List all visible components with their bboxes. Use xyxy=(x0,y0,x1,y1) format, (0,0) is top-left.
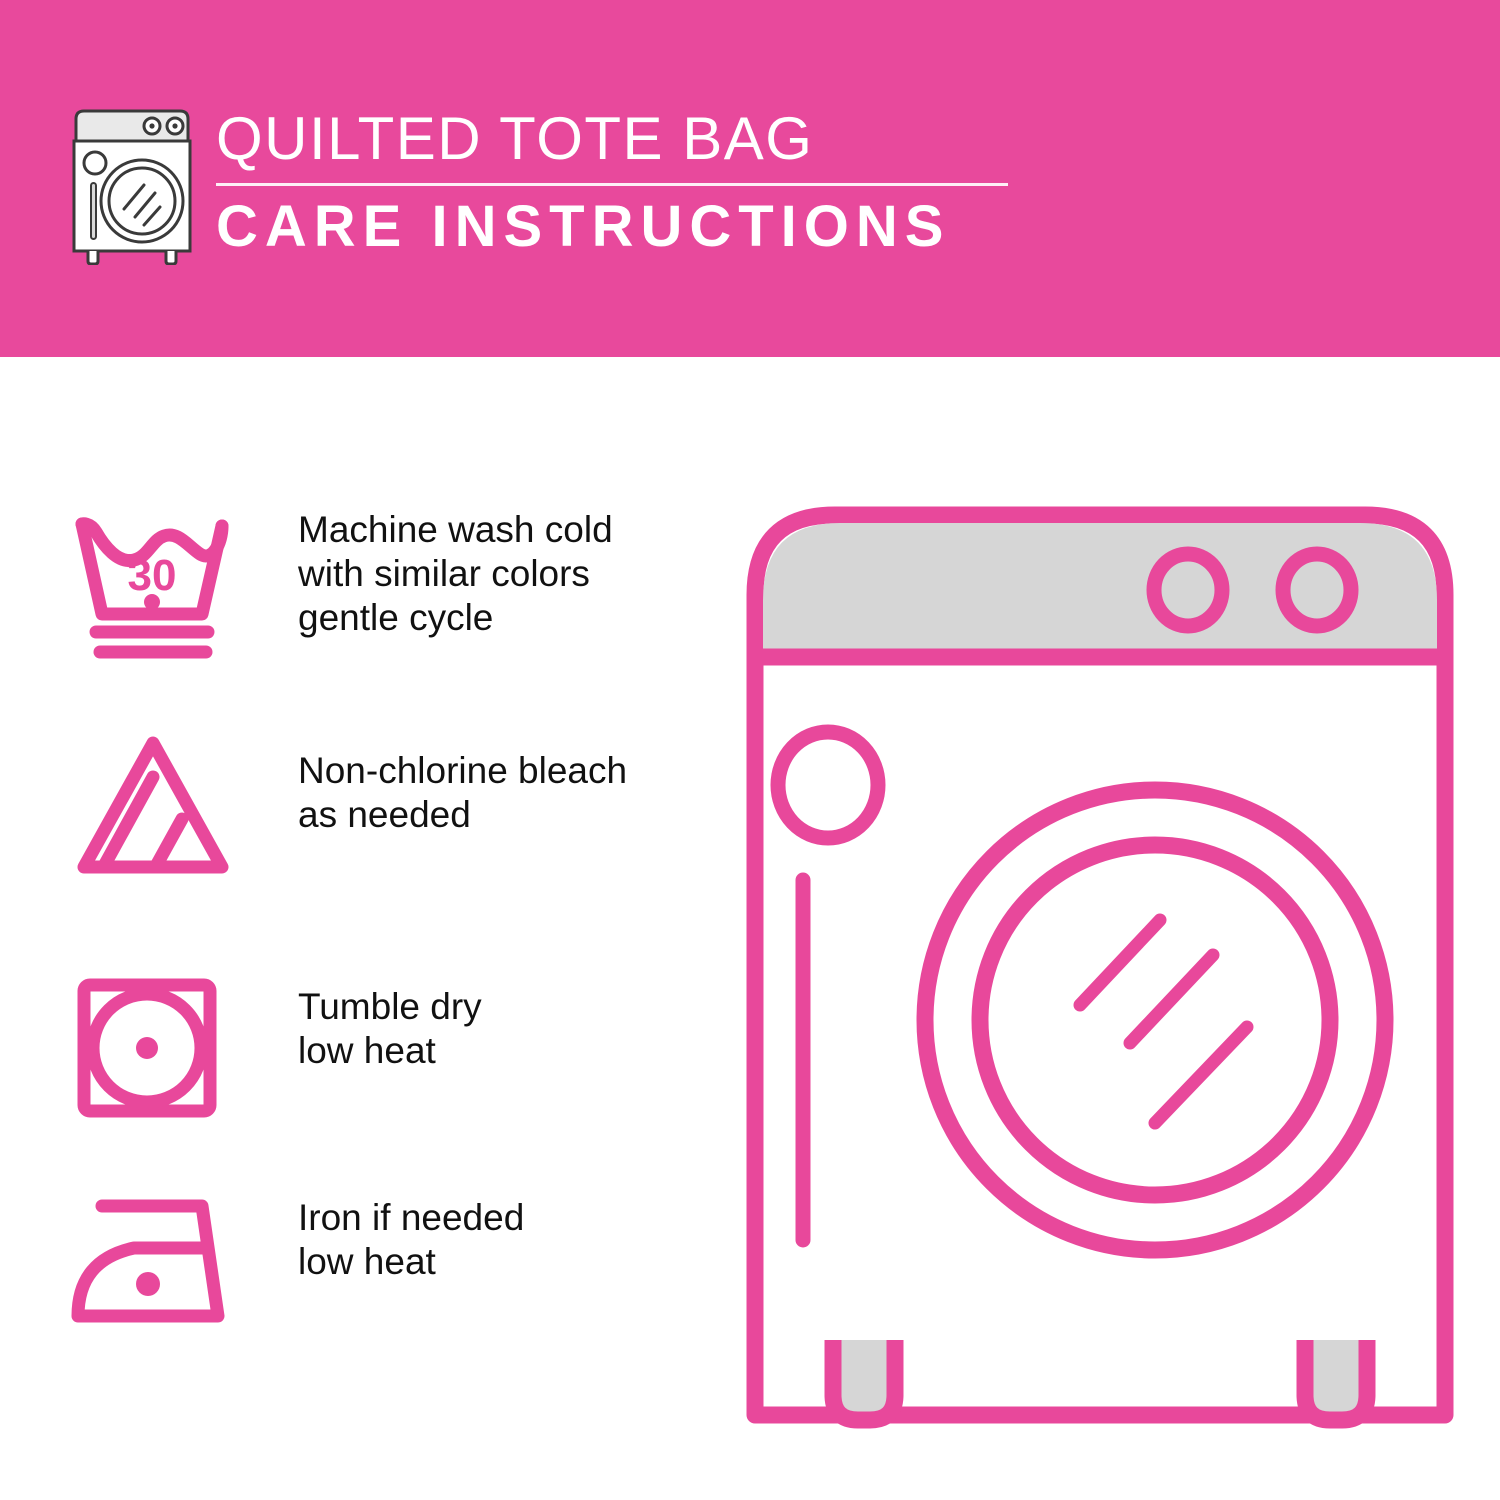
care-text-line: Iron if needed xyxy=(298,1196,524,1240)
knob-right xyxy=(1283,554,1351,626)
title-divider xyxy=(216,183,1008,186)
care-instruction-text: Machine wash cold with similar colors ge… xyxy=(250,502,613,640)
non-chlorine-bleach-triangle-icon xyxy=(60,727,250,892)
care-instructions-list: 30 Machine wash cold with similar colors… xyxy=(0,357,720,1500)
header-title-block: QUILTED TOTE BAG CARE INSTRUCTIONS xyxy=(216,106,1016,259)
care-instruction-item: Iron if needed low heat xyxy=(60,1182,700,1347)
care-instruction-item: 30 Machine wash cold with similar colors… xyxy=(60,502,700,667)
knob-left xyxy=(1154,554,1222,626)
care-text-line: Machine wash cold xyxy=(298,508,613,552)
care-text-line: low heat xyxy=(298,1029,482,1073)
care-text-line: with similar colors xyxy=(298,552,613,596)
care-instruction-text: Iron if needed low heat xyxy=(250,1182,524,1284)
wash-tub-30-gentle-icon: 30 xyxy=(60,502,250,667)
care-instruction-item: Non-chlorine bleach as needed xyxy=(60,727,700,892)
small-dial xyxy=(778,732,878,838)
leg-right xyxy=(1305,1340,1367,1420)
care-text-line: gentle cycle xyxy=(298,596,613,640)
iron-low-heat-icon xyxy=(60,1182,250,1347)
tumble-dry-low-heat-icon xyxy=(60,965,250,1130)
header-banner: QUILTED TOTE BAG CARE INSTRUCTIONS xyxy=(0,0,1500,357)
care-text-line: as needed xyxy=(298,793,627,837)
page-subtitle: CARE INSTRUCTIONS xyxy=(216,195,1016,259)
care-text-line: Non-chlorine bleach xyxy=(298,749,627,793)
page-title: QUILTED TOTE BAG xyxy=(216,106,1016,172)
care-instruction-text: Non-chlorine bleach as needed xyxy=(250,727,627,837)
washing-machine-icon xyxy=(62,105,202,265)
care-text-line: low heat xyxy=(298,1240,524,1284)
large-washing-machine-illustration xyxy=(735,495,1465,1435)
care-instruction-item: Tumble dry low heat xyxy=(60,965,700,1130)
care-instruction-text: Tumble dry low heat xyxy=(250,965,482,1073)
leg-left xyxy=(833,1340,895,1420)
wash-temperature-value: 30 xyxy=(128,551,177,600)
care-text-line: Tumble dry xyxy=(298,985,482,1029)
